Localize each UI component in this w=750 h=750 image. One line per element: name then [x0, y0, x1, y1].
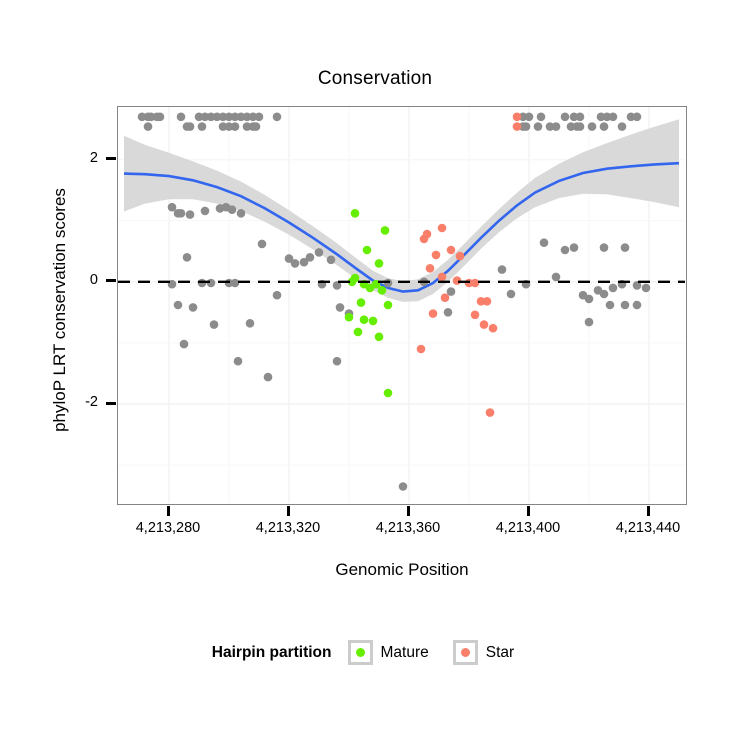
- y-axis-tick: [106, 402, 116, 405]
- data-point: [552, 273, 561, 282]
- data-point: [183, 253, 192, 262]
- data-point: [144, 122, 153, 131]
- data-point: [621, 301, 630, 310]
- data-point: [234, 357, 243, 366]
- data-point: [246, 319, 255, 328]
- data-point: [585, 295, 594, 304]
- data-point: [264, 373, 273, 382]
- x-axis-tick: [167, 506, 170, 516]
- data-point: [315, 248, 324, 257]
- data-point: [327, 256, 336, 265]
- data-point: [447, 246, 456, 255]
- x-axis-label: Genomic Position: [117, 560, 687, 580]
- data-point: [210, 320, 219, 329]
- data-point: [369, 317, 378, 326]
- data-point: [186, 122, 195, 131]
- data-point: [198, 279, 207, 288]
- data-point: [345, 313, 354, 322]
- data-point: [375, 333, 384, 342]
- legend-label: Star: [486, 644, 514, 662]
- data-point: [231, 279, 240, 288]
- legend-item-star[interactable]: Star: [453, 640, 532, 665]
- data-point: [231, 122, 240, 131]
- legend-dot-icon: [356, 648, 365, 657]
- legend-dot-icon: [461, 648, 470, 657]
- series-mature: [345, 209, 393, 397]
- y-axis-tick: [106, 157, 116, 160]
- data-point: [600, 243, 609, 252]
- x-axis-tick-label: 4,213,400: [468, 520, 588, 536]
- data-point: [444, 308, 453, 317]
- data-point: [633, 113, 642, 122]
- x-axis-tick: [407, 506, 410, 516]
- data-point: [198, 122, 207, 131]
- data-point: [561, 246, 570, 255]
- data-point: [252, 122, 261, 131]
- data-point: [576, 113, 585, 122]
- data-point: [351, 209, 360, 218]
- data-point: [363, 246, 372, 255]
- data-point: [441, 293, 450, 302]
- data-point: [255, 113, 264, 122]
- data-point: [333, 357, 342, 366]
- data-point: [600, 290, 609, 299]
- y-axis-tick-label: 0: [58, 272, 98, 288]
- y-axis-tick: [106, 279, 116, 282]
- data-point: [513, 122, 522, 131]
- data-point: [354, 328, 363, 337]
- data-point: [417, 345, 426, 354]
- data-point: [606, 301, 615, 310]
- y-axis-tick-label: 2: [58, 150, 98, 166]
- data-point: [534, 122, 543, 131]
- plot-panel: [117, 106, 687, 505]
- y-axis-tick-label: -2: [58, 394, 98, 410]
- data-point: [273, 291, 282, 300]
- data-point: [186, 210, 195, 219]
- data-point: [201, 207, 210, 216]
- data-point: [585, 318, 594, 327]
- data-point: [483, 297, 492, 306]
- x-axis-tick-label: 4,213,320: [228, 520, 348, 536]
- chart-root: Conservation phyloP LRT conservation sco…: [0, 0, 750, 750]
- data-point: [291, 259, 300, 268]
- data-point: [621, 243, 630, 252]
- data-point: [174, 301, 183, 310]
- data-point: [609, 113, 618, 122]
- data-point: [480, 320, 489, 329]
- legend-label: Mature: [381, 644, 429, 662]
- data-point: [384, 301, 393, 310]
- data-point: [537, 113, 546, 122]
- legend-swatch: [453, 640, 478, 665]
- data-point: [489, 324, 498, 333]
- legend: Hairpin partition MatureStar: [0, 640, 750, 665]
- data-point: [306, 253, 315, 262]
- data-point: [540, 238, 549, 247]
- data-point: [384, 389, 393, 398]
- data-point: [207, 279, 216, 288]
- data-point: [432, 251, 441, 260]
- data-point: [381, 226, 390, 235]
- x-axis-tick: [647, 506, 650, 516]
- data-point: [570, 243, 579, 252]
- x-axis-tick: [527, 506, 530, 516]
- data-point: [438, 273, 447, 282]
- data-point: [177, 113, 186, 122]
- data-point: [456, 252, 465, 261]
- page-title: Conservation: [0, 68, 750, 90]
- data-point: [273, 113, 282, 122]
- data-point: [576, 122, 585, 131]
- legend-title: Hairpin partition: [212, 644, 332, 662]
- data-point: [609, 284, 618, 293]
- data-point: [471, 279, 480, 288]
- data-point: [177, 209, 186, 218]
- data-point: [642, 284, 651, 293]
- x-axis-tick-label: 4,213,440: [588, 520, 708, 536]
- x-axis-tick-label: 4,213,360: [348, 520, 468, 536]
- data-point: [588, 122, 597, 131]
- plot-canvas: [118, 107, 685, 503]
- data-point: [375, 259, 384, 268]
- data-point: [357, 298, 366, 307]
- data-point: [552, 122, 561, 131]
- data-point: [525, 113, 534, 122]
- data-point: [426, 264, 435, 273]
- data-point: [618, 122, 627, 131]
- data-point: [633, 301, 642, 310]
- data-point: [189, 303, 198, 312]
- data-point: [507, 290, 516, 299]
- data-point: [438, 224, 447, 233]
- data-point: [384, 279, 393, 288]
- data-point: [258, 240, 267, 249]
- data-point: [498, 265, 507, 274]
- data-point: [522, 122, 531, 131]
- data-point: [420, 235, 429, 244]
- data-point: [378, 286, 387, 295]
- data-point: [561, 113, 570, 122]
- data-point: [600, 122, 609, 131]
- data-point: [228, 205, 237, 214]
- data-point: [429, 309, 438, 318]
- legend-item-mature[interactable]: Mature: [348, 640, 447, 665]
- data-point: [336, 303, 345, 312]
- data-point: [471, 311, 480, 320]
- data-point: [513, 113, 522, 122]
- data-point: [360, 315, 369, 324]
- x-axis-tick: [287, 506, 290, 516]
- legend-keys: MatureStar: [348, 640, 539, 665]
- x-axis-tick-label: 4,213,280: [108, 520, 228, 536]
- legend-swatch: [348, 640, 373, 665]
- data-point: [399, 482, 408, 491]
- data-point: [180, 340, 189, 349]
- data-point: [486, 408, 495, 417]
- data-point: [237, 209, 246, 218]
- data-point: [156, 113, 165, 122]
